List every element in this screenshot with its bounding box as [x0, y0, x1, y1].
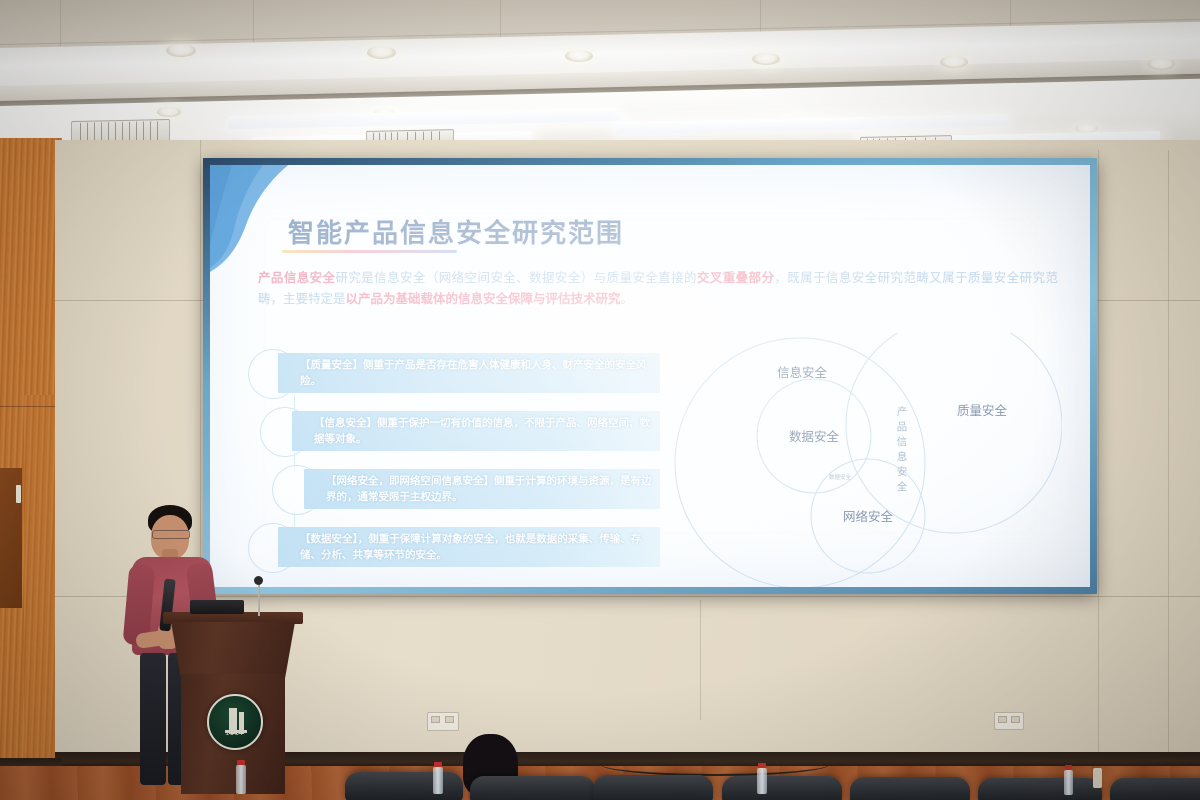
- emblem-year: 1957: [209, 730, 261, 737]
- wall-seam: [700, 600, 701, 720]
- microphone-stand: [258, 582, 260, 616]
- laptop[interactable]: [190, 600, 244, 614]
- presentation-slide: 智能产品信息安全研究范围 产品信息安全研究是信息安全（网络空间安全、数据安全）与…: [210, 165, 1090, 587]
- lead-run-5: 。: [621, 292, 634, 306]
- downlight-icon: [1147, 58, 1175, 70]
- lead-run-1: 研究是信息安全（网络空间安全、数据安全）与质量安全直接的: [335, 271, 696, 285]
- venn-product-char: 息: [897, 450, 908, 463]
- audience-seat[interactable]: [978, 778, 1102, 800]
- list-item[interactable]: 【数据安全】，侧重于保障计算对象的安全，也就是数据的采集、传输、存储、分析、共享…: [248, 521, 660, 579]
- water-bottle[interactable]: [432, 762, 444, 794]
- venn-label-network-security: 网络安全: [843, 509, 894, 524]
- lead-run-4: 以产品为基础载体的信息安全保障与评估技术研究: [346, 292, 621, 306]
- venn-label-quality-safety: 质量安全: [957, 403, 1008, 418]
- venn-label-information-security: 信息安全: [777, 365, 828, 380]
- podium-upper: [171, 622, 295, 678]
- bullet-list: 【质量安全】侧重于产品是否存在危害人体健康和人身、财产安全的安全风险。 【信息安…: [248, 347, 660, 579]
- water-bottle[interactable]: [756, 763, 768, 794]
- downlight-icon: [367, 46, 396, 59]
- microphone-head-icon: [254, 576, 263, 585]
- audience-seat[interactable]: [722, 776, 842, 800]
- list-item[interactable]: 【网络安全，即网络空间信息安全】侧重于计算的环境与资源，是有边界的，通常受限于主…: [248, 463, 660, 521]
- water-bottle[interactable]: [1063, 765, 1074, 795]
- wall-switch: [16, 485, 21, 503]
- venn-product-char: 信: [897, 436, 908, 448]
- slide-lead-paragraph: 产品信息安全研究是信息安全（网络空间安全、数据安全）与质量安全直接的交叉重叠部分…: [258, 268, 1058, 310]
- water-bottle[interactable]: [235, 760, 247, 794]
- bullet-band: 【信息安全】侧重于保护一切有价值的信息，不限于产品、网络空间、数据等对象。: [292, 411, 660, 451]
- venn-product-char: 全: [897, 480, 908, 493]
- bullet-text: 【质量安全】侧重于产品是否存在危害人体健康和人身、财产安全的安全风险。: [300, 357, 652, 389]
- bullet-text: 【信息安全】侧重于保护一切有价值的信息，不限于产品、网络空间、数据等对象。: [314, 415, 652, 447]
- downlight-icon: [565, 50, 593, 62]
- venn-product-char: 品: [897, 421, 908, 433]
- title-underline: [282, 250, 457, 253]
- venn-circle-quality-safety: [846, 333, 1062, 533]
- audience-seat[interactable]: [1110, 778, 1200, 800]
- projection-screen[interactable]: 智能产品信息安全研究范围 产品信息安全研究是信息安全（网络空间安全、数据安全）与…: [203, 158, 1097, 594]
- podium: 1957: [163, 612, 303, 782]
- university-emblem: 1957: [207, 694, 263, 750]
- bullet-band: 【质量安全】侧重于产品是否存在危害人体健康和人身、财产安全的安全风险。: [278, 353, 660, 393]
- bullet-text: 【网络安全，即网络空间信息安全】侧重于计算的环境与资源，是有边界的，通常受限于主…: [326, 473, 652, 505]
- lecture-hall-photo: 智能产品信息安全研究范围 产品信息安全研究是信息安全（网络空间安全、数据安全）与…: [0, 0, 1200, 800]
- lead-run-0: 产品信息安全: [258, 271, 335, 285]
- downlight-icon: [752, 53, 780, 65]
- wall-outlet[interactable]: [994, 712, 1024, 730]
- venn-label-product-information-security: 产品信息安全: [897, 405, 908, 493]
- desk-object: [1093, 768, 1102, 788]
- downlight-icon: [940, 56, 968, 68]
- audience-seat[interactable]: [345, 772, 463, 800]
- downlight-icon: [166, 44, 196, 57]
- wall-outlet[interactable]: [427, 712, 459, 731]
- audience-seat[interactable]: [470, 776, 595, 800]
- audience-seat[interactable]: [593, 775, 713, 800]
- slide-title: 智能产品信息安全研究范围: [288, 213, 624, 250]
- floor-cable: [600, 752, 830, 776]
- venn-label-data-security: 数据安全: [789, 429, 840, 444]
- wall-seam: [1168, 150, 1169, 785]
- audience-seat[interactable]: [850, 777, 970, 800]
- venn-diagram: 信息安全 质量安全 数据安全 网络安全 数据安全 产品信息安全: [662, 333, 1062, 587]
- bullet-band: 【网络安全，即网络空间信息安全】侧重于计算的环境与资源，是有边界的，通常受限于主…: [304, 469, 660, 509]
- bullet-text: 【数据安全】，侧重于保障计算对象的安全，也就是数据的采集、传输、存储、分析、共享…: [300, 531, 652, 563]
- wall-seam: [0, 406, 62, 407]
- downlight-icon: [157, 107, 181, 117]
- bullet-band: 【数据安全】，侧重于保障计算对象的安全，也就是数据的采集、传输、存储、分析、共享…: [278, 527, 660, 567]
- glasses-icon: [152, 530, 190, 539]
- list-item[interactable]: 【信息安全】侧重于保护一切有价值的信息，不限于产品、网络空间、数据等对象。: [248, 405, 660, 463]
- lead-run-2: 交叉重叠部分: [697, 271, 774, 285]
- list-item[interactable]: 【质量安全】侧重于产品是否存在危害人体健康和人身、财产安全的安全风险。: [248, 347, 660, 405]
- venn-product-char: 安: [897, 465, 908, 478]
- wall-seam: [1098, 150, 1099, 785]
- venn-product-char: 产: [897, 405, 908, 418]
- venn-label-small-note: 数据安全: [829, 473, 852, 481]
